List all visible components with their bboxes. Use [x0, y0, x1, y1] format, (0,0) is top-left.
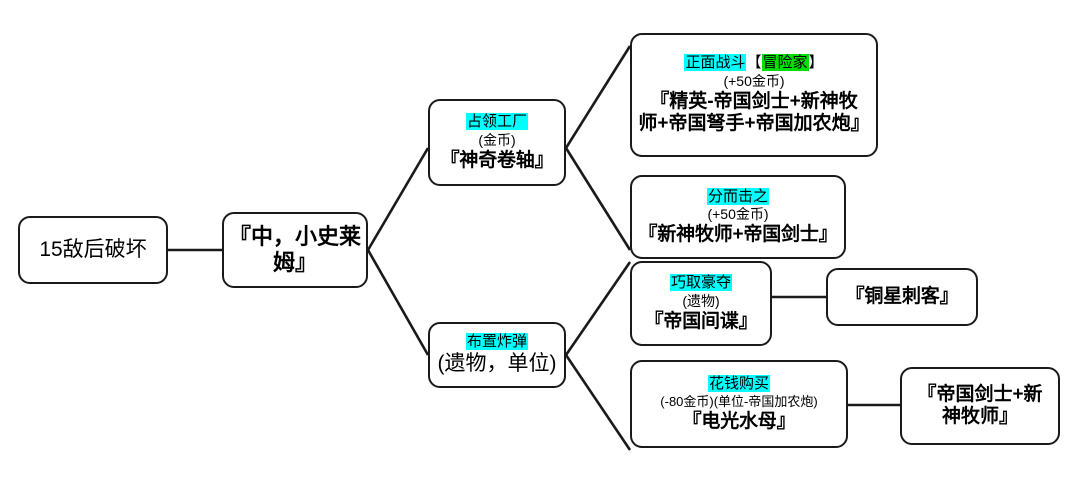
edge-bomb-to-buy	[566, 355, 630, 450]
node-leaf-frontal[interactable]: 正面战斗【冒险家】 (+50金币) 『精英-帝国剑士+新神牧 师+帝国弩手+帝国…	[630, 33, 878, 157]
diagram-canvas: 15敌后破坏 『中，小史莱姆』 占领工厂 (金币) 『神奇卷轴』 布置炸弹 (遗…	[0, 0, 1080, 500]
node-branch-factory-sub: (金币)	[430, 133, 564, 149]
node-branch-factory-title: 占领工厂	[430, 114, 564, 131]
node-leaf-seize[interactable]: 巧取豪夺 (遗物) 『帝国间谍』	[630, 261, 772, 346]
node-leaf-seize-main: 『帝国间谍』	[632, 311, 770, 332]
frontal-bracket-close: 】	[809, 54, 824, 71]
highlight-green-adventurer: 冒险家	[762, 54, 809, 71]
node-leaf-divide[interactable]: 分而击之 (+50金币) 『新神牧师+帝国剑士』	[630, 175, 846, 259]
edge-factory-to-frontal	[566, 46, 630, 148]
highlight-cyan-divide: 分而击之	[707, 188, 769, 205]
node-leaf-divide-title: 分而击之	[632, 189, 844, 206]
edge-bomb-to-seize	[566, 262, 630, 355]
node-leaf-buy-sub: (-80金币)(单位-帝国加农炮)	[632, 395, 846, 410]
node-root[interactable]: 15敌后破坏	[18, 216, 168, 284]
node-leaf-frontal-main-line2: 师+帝国弩手+帝国加农炮』	[630, 113, 878, 135]
node-branch-bomb-title: 布置炸弹	[430, 334, 564, 351]
node-result-swordsman[interactable]: 『帝国剑士+新 神牧师』	[900, 367, 1060, 445]
node-leaf-buy[interactable]: 花钱购买 (-80金币)(单位-帝国加农炮) 『电光水母』	[630, 360, 848, 448]
highlight-cyan-buy: 花钱购买	[708, 375, 770, 392]
node-result-swordsman-line2: 神牧师』	[900, 406, 1060, 428]
node-branch-factory-main: 『神奇卷轴』	[430, 150, 564, 171]
node-leaf-frontal-title: 正面战斗【冒险家】	[632, 55, 876, 72]
node-leaf-frontal-sub: (+50金币)	[632, 74, 876, 90]
edge-factory-to-divide	[566, 148, 630, 250]
node-branch-factory[interactable]: 占领工厂 (金币) 『神奇卷轴』	[428, 99, 566, 186]
node-mission[interactable]: 『中，小史莱姆』	[222, 212, 368, 288]
node-leaf-divide-main: 『新神牧师+帝国剑士』	[632, 224, 844, 245]
node-result-assassin[interactable]: 『铜星刺客』	[826, 268, 978, 326]
node-mission-label: 『中，小史莱姆』	[224, 224, 366, 277]
highlight-cyan-seize: 巧取豪夺	[670, 274, 732, 291]
edge-mission-to-bomb	[368, 250, 428, 355]
highlight-cyan-bomb: 布置炸弹	[466, 333, 528, 350]
node-result-swordsman-line1: 『帝国剑士+新	[900, 384, 1060, 406]
node-branch-bomb[interactable]: 布置炸弹 (遗物，单位)	[428, 322, 566, 388]
node-leaf-buy-main: 『电光水母』	[632, 411, 846, 432]
node-leaf-buy-title: 花钱购买	[632, 376, 846, 393]
node-leaf-frontal-main-line1: 『精英-帝国剑士+新神牧	[630, 91, 878, 113]
node-branch-bomb-sub: (遗物，单位)	[430, 352, 564, 376]
frontal-bracket-open: 【	[746, 54, 761, 71]
node-root-label: 15敌后破坏	[20, 238, 166, 262]
node-leaf-seize-sub: (遗物)	[632, 294, 770, 310]
node-leaf-seize-title: 巧取豪夺	[632, 275, 770, 292]
node-result-assassin-label: 『铜星刺客』	[828, 286, 976, 307]
node-leaf-divide-sub: (+50金币)	[632, 207, 844, 223]
highlight-cyan-frontal: 正面战斗	[684, 54, 746, 71]
edge-mission-to-factory	[368, 148, 428, 250]
highlight-cyan-factory: 占领工厂	[466, 113, 528, 130]
